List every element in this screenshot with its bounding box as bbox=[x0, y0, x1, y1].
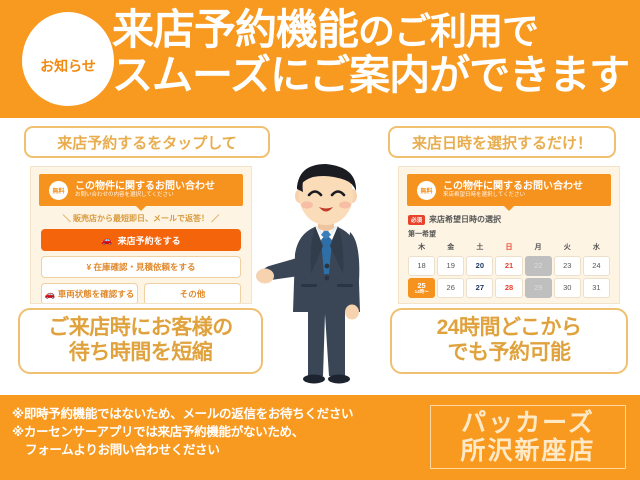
calendar-day-31[interactable]: 31 bbox=[583, 278, 610, 298]
calendar-day-time: 14時〜 bbox=[415, 290, 429, 295]
calendar-day-number: 31 bbox=[592, 284, 600, 292]
calendar-day-29: 29 bbox=[525, 278, 552, 298]
calendar-day-number: 21 bbox=[505, 262, 513, 270]
mock-calendar-screen: 無料 この物件に関するお問い合わせ 来店希望日時を選択してください 必須 来店希… bbox=[398, 166, 620, 304]
calendar-day-number: 26 bbox=[447, 284, 455, 292]
stock-quote-button[interactable]: ¥ 在庫確認・見積依頼をする bbox=[41, 256, 241, 278]
calendar-day-number: 30 bbox=[563, 284, 571, 292]
headline-emphasis: 来店予約機能 bbox=[112, 6, 358, 53]
promo-banner: お知らせ 来店予約機能のご利用で スムーズにご案内ができます 来店予約するをタッ… bbox=[0, 0, 640, 480]
calendar: 必須 来店希望日時の選択 第一希望 木金土日月火水181920212223242… bbox=[408, 214, 610, 298]
calendar-day-30[interactable]: 30 bbox=[554, 278, 581, 298]
calendar-day-28[interactable]: 28 bbox=[495, 278, 522, 298]
mock-left-subtitle: お問い合わせの内容を選択してください bbox=[75, 192, 215, 199]
preference-label: 第一希望 bbox=[408, 229, 610, 239]
free-badge-icon: 無料 bbox=[49, 181, 68, 200]
shop-name-line-2: 所沢新座店 bbox=[460, 437, 595, 465]
reserve-visit-button[interactable]: 🚗 来店予約をする bbox=[41, 229, 241, 251]
other-label: その他 bbox=[180, 288, 206, 300]
calendar-grid: 木金土日月火水181920212223242514時〜262728293031 bbox=[408, 242, 610, 298]
mock-left-lead: ＼ 販売店から最短即日、メールで返答！ ／ bbox=[41, 213, 241, 224]
reserve-visit-label: 来店予約をする bbox=[118, 234, 181, 247]
headline: 来店予約機能のご利用で スムーズにご案内ができます bbox=[112, 8, 632, 96]
headline-tail: のご利用で bbox=[358, 11, 538, 52]
calendar-weekday-土: 土 bbox=[466, 242, 493, 254]
step-label-right: 来店日時を選択するだけ！ bbox=[388, 126, 616, 158]
banner-header: お知らせ 来店予約機能のご利用で スムーズにご案内ができます bbox=[0, 0, 640, 118]
calendar-week-row: 2514時〜262728293031 bbox=[408, 278, 610, 298]
shop-name-badge: パッカーズ 所沢新座店 bbox=[430, 405, 626, 469]
calendar-weekday-月: 月 bbox=[525, 242, 552, 254]
calendar-day-25[interactable]: 2514時〜 bbox=[408, 278, 435, 298]
calendar-day-22: 22 bbox=[525, 256, 552, 276]
calendar-day-number: 18 bbox=[417, 262, 425, 270]
feature-callout-right: 24時間どこから でも予約可能 bbox=[390, 308, 628, 374]
calendar-day-number: 23 bbox=[563, 262, 571, 270]
calendar-day-24[interactable]: 24 bbox=[583, 256, 610, 276]
calendar-section-title: 来店希望日時の選択 bbox=[429, 214, 501, 225]
calendar-weekday-水: 水 bbox=[583, 242, 610, 254]
disclaimer-line-2: ※カーセンサーアプリでは来店予約機能がないため、 bbox=[12, 423, 412, 441]
disclaimer: ※即時予約機能ではないため、メールの返信をお待ちください ※カーセンサーアプリで… bbox=[12, 405, 412, 459]
car-icon: 🚗 bbox=[101, 235, 112, 246]
banner-footer: ※即時予約機能ではないため、メールの返信をお待ちください ※カーセンサーアプリで… bbox=[0, 395, 640, 480]
calendar-day-number: 28 bbox=[505, 284, 513, 292]
notice-badge-label: お知らせ bbox=[22, 56, 114, 76]
calendar-day-number: 24 bbox=[592, 262, 600, 270]
calendar-day-21[interactable]: 21 bbox=[495, 256, 522, 276]
other-button[interactable]: その他 bbox=[144, 283, 241, 304]
content-stage: 来店予約するをタップして 来店日時を選択するだけ！ 無料 この物件に関するお問い… bbox=[0, 118, 640, 395]
calendar-day-26[interactable]: 26 bbox=[437, 278, 464, 298]
vehicle-condition-button[interactable]: 🚗 車両状態を確認する bbox=[41, 283, 138, 304]
disclaimer-line-3: フォームよりお問い合わせください bbox=[12, 441, 412, 459]
calendar-weekday-金: 金 bbox=[437, 242, 464, 254]
calendar-day-number: 27 bbox=[476, 284, 484, 292]
calendar-required-row: 必須 来店希望日時の選択 bbox=[408, 214, 610, 225]
mock-right-subtitle: 来店希望日時を選択してください bbox=[443, 192, 583, 199]
calendar-day-number: 22 bbox=[534, 262, 542, 270]
calendar-weekday-火: 火 bbox=[554, 242, 581, 254]
vehicle-condition-label: 車両状態を確認する bbox=[58, 288, 135, 300]
calendar-weekday-木: 木 bbox=[408, 242, 435, 254]
calendar-weekday-日: 日 bbox=[495, 242, 522, 254]
feature-callout-left: ご来店時にお客様の 待ち時間を短縮 bbox=[18, 308, 263, 374]
step-label-left: 来店予約するをタップして bbox=[24, 126, 270, 158]
calendar-day-20[interactable]: 20 bbox=[466, 256, 493, 276]
disclaimer-line-1: ※即時予約機能ではないため、メールの返信をお待ちください bbox=[12, 405, 412, 423]
mock-right-header: 無料 この物件に関するお問い合わせ 来店希望日時を選択してください bbox=[407, 174, 611, 206]
calendar-day-number: 29 bbox=[534, 284, 542, 292]
feature-right-line-1: 24時間どこから bbox=[437, 316, 582, 341]
shop-name-line-1: パッカーズ bbox=[461, 409, 595, 437]
headline-line-1: 来店予約機能のご利用で bbox=[112, 8, 632, 52]
calendar-week-row: 18192021222324 bbox=[408, 256, 610, 276]
calendar-day-23[interactable]: 23 bbox=[554, 256, 581, 276]
mock-left-header: 無料 この物件に関するお問い合わせ お問い合わせの内容を選択してください bbox=[39, 174, 243, 206]
calendar-day-number: 19 bbox=[447, 262, 455, 270]
mock-inquiry-screen: 無料 この物件に関するお問い合わせ お問い合わせの内容を選択してください ＼ 販… bbox=[30, 166, 252, 304]
headline-line-2: スムーズにご案内ができます bbox=[112, 54, 632, 97]
mock-right-title: この物件に関するお問い合わせ bbox=[443, 181, 583, 193]
salesman-illustration bbox=[253, 162, 401, 395]
notice-bubble: お知らせ bbox=[22, 12, 114, 106]
secondary-button-row: 🚗 車両状態を確認する その他 bbox=[41, 283, 241, 304]
feature-left-line-2: 待ち時間を短縮 bbox=[69, 341, 213, 366]
mock-left-title: この物件に関するお問い合わせ bbox=[75, 181, 215, 193]
stock-quote-label: 在庫確認・見積依頼をする bbox=[94, 261, 196, 273]
car-icon: 🚗 bbox=[45, 289, 58, 300]
free-badge-icon: 無料 bbox=[417, 181, 436, 200]
yen-icon: ¥ bbox=[86, 262, 93, 272]
calendar-day-18[interactable]: 18 bbox=[408, 256, 435, 276]
required-badge: 必須 bbox=[408, 215, 425, 225]
feature-right-line-2: でも予約可能 bbox=[448, 341, 571, 366]
calendar-weekday-row: 木金土日月火水 bbox=[408, 242, 610, 254]
calendar-day-number: 25 bbox=[417, 282, 425, 290]
calendar-day-27[interactable]: 27 bbox=[466, 278, 493, 298]
feature-left-line-1: ご来店時にお客様の bbox=[48, 316, 233, 341]
calendar-day-number: 20 bbox=[476, 262, 484, 270]
calendar-day-19[interactable]: 19 bbox=[437, 256, 464, 276]
